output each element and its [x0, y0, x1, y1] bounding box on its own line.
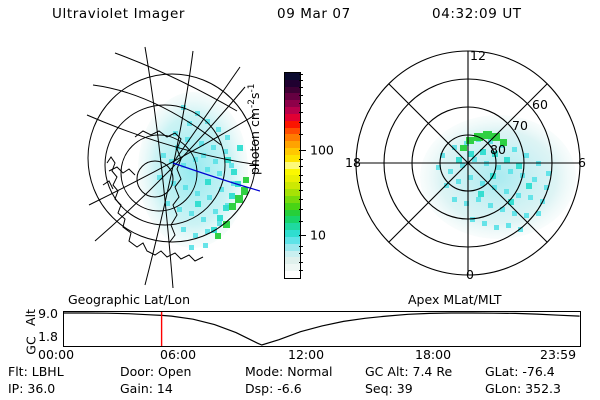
altitude-curve	[64, 313, 580, 345]
colorbar-segment	[285, 237, 300, 244]
status-glat: GLat: -76.4	[485, 364, 555, 379]
colorbar-segment	[285, 223, 300, 230]
apex-mlat-mlt-plot: 12 6 0 18 60 70 80	[340, 45, 600, 290]
status-gc-alt: GC Alt: 7.4 Re	[365, 364, 452, 379]
colorbar-minor-tick	[299, 122, 303, 123]
colorbar-axis-label: photon cm-2s-1	[247, 84, 262, 175]
x-tick-2: 12:00	[288, 347, 324, 362]
colorbar-segment	[285, 162, 300, 169]
mlat-label-80: 80	[490, 142, 506, 157]
colorbar-segment	[285, 87, 300, 94]
colorbar-major-tick	[299, 150, 306, 151]
colorbar-minor-tick	[299, 112, 303, 113]
colorbar-minor-tick	[299, 80, 303, 81]
colorbar-minor-tick	[299, 199, 303, 200]
colorbar-segment	[285, 264, 300, 271]
colorbar-segment	[285, 257, 300, 264]
colorbar-segment	[285, 155, 300, 162]
x-tick-3: 18:00	[415, 347, 451, 362]
colorbar-segment	[285, 216, 300, 223]
colorbar-minor-tick	[299, 175, 303, 176]
x-tick-1: 06:00	[160, 347, 196, 362]
observation-time: 04:32:09 UT	[432, 6, 522, 22]
colorbar-minor-tick	[299, 74, 303, 75]
strip-titles: Geographic Lat/Lon Apex MLat/MLT	[0, 292, 600, 308]
colorbar-minor-tick	[299, 182, 303, 183]
colorbar-minor-tick	[299, 253, 303, 254]
status-gain: Gain: 14	[120, 381, 173, 396]
right-panel-title: Apex MLat/MLT	[408, 292, 502, 307]
colorbar-segment	[285, 189, 300, 196]
colorbar-segment	[285, 196, 300, 203]
geographic-plot-svg	[85, 45, 260, 290]
status-door: Door: Open	[120, 364, 191, 379]
colorbar-segment	[285, 169, 300, 176]
left-panel-title: Geographic Lat/Lon	[68, 292, 190, 307]
status-dsp: Dsp: -6.6	[245, 381, 302, 396]
colorbar-minor-tick	[299, 270, 303, 271]
colorbar-minor-tick	[299, 209, 303, 210]
aurora-emission-layer	[138, 92, 249, 250]
y-tick-bottom: 1.8	[28, 329, 58, 344]
mlt-spokes	[356, 51, 580, 275]
orbit-altitude-svg	[64, 312, 580, 346]
x-tick-4: 23:59	[540, 347, 576, 362]
status-ip: IP: 36.0	[8, 381, 55, 396]
colorbar-segment	[285, 210, 300, 217]
colorbar-segment	[285, 128, 300, 135]
colorbar-segment	[285, 203, 300, 210]
mlt-label-18: 18	[345, 155, 361, 170]
colorbar-segment	[285, 244, 300, 251]
colorbar-segment	[285, 141, 300, 148]
mlt-label-6: 6	[578, 155, 586, 170]
colorbar-segment	[285, 93, 300, 100]
colorbar-minor-tick	[299, 166, 303, 167]
status-footer: Flt: LBHL IP: 36.0 Door: Open Gain: 14 M…	[0, 364, 600, 400]
orbit-altitude-plot	[63, 311, 581, 347]
colorbar-segment	[285, 100, 300, 107]
colorbar-segment	[285, 251, 300, 258]
colorbar-minor-tick	[299, 134, 303, 135]
colorbar-minor-tick	[299, 221, 303, 222]
colorbar-minor-tick	[299, 95, 303, 96]
geographic-polar-plot	[85, 45, 260, 290]
y-tick-top: 9.0	[28, 306, 58, 321]
mlat-label-70: 70	[512, 118, 528, 133]
colorbar-segment	[285, 182, 300, 189]
colorbar-segment	[285, 80, 300, 87]
colorbar-minor-tick	[299, 87, 303, 88]
colorbar-major-tick	[299, 235, 306, 236]
colorbar-segment	[285, 271, 300, 278]
colorbar-segment	[285, 230, 300, 237]
x-tick-0: 00:00	[38, 347, 74, 362]
colorbar-segment	[285, 175, 300, 182]
colorbar-segment	[285, 148, 300, 155]
status-filter: Flt: LBHL	[8, 364, 64, 379]
colorbar-segment	[285, 73, 300, 80]
mlt-plot-svg	[340, 45, 600, 290]
colorbar-minor-tick	[299, 159, 303, 160]
colorbar-minor-tick	[299, 103, 303, 104]
colorbar-segment	[285, 121, 300, 128]
colorbar-minor-tick	[299, 262, 303, 263]
header-bar: Ultraviolet Imager 09 Mar 07 04:32:09 UT	[0, 6, 600, 30]
colorbar-segment	[285, 114, 300, 121]
status-seq: Seq: 39	[365, 381, 413, 396]
instrument-title: Ultraviolet Imager	[52, 6, 185, 22]
mlat-label-60: 60	[532, 97, 548, 112]
ultraviolet-imager-window: Ultraviolet Imager 09 Mar 07 04:32:09 UT	[0, 0, 600, 400]
status-mode: Mode: Normal	[245, 364, 332, 379]
colorbar-segment	[285, 134, 300, 141]
colorbar-tick-label-0: 100	[310, 142, 334, 157]
mlt-label-0: 0	[466, 267, 474, 282]
status-glon: GLon: 352.3	[485, 381, 561, 396]
colorbar-segment	[285, 107, 300, 114]
colorbar-minor-tick	[299, 246, 303, 247]
observation-date: 09 Mar 07	[277, 6, 351, 22]
colorbar-tick-label-1: 10	[310, 227, 326, 242]
colorbar-minor-tick	[299, 190, 303, 191]
mlt-label-12: 12	[470, 48, 486, 63]
